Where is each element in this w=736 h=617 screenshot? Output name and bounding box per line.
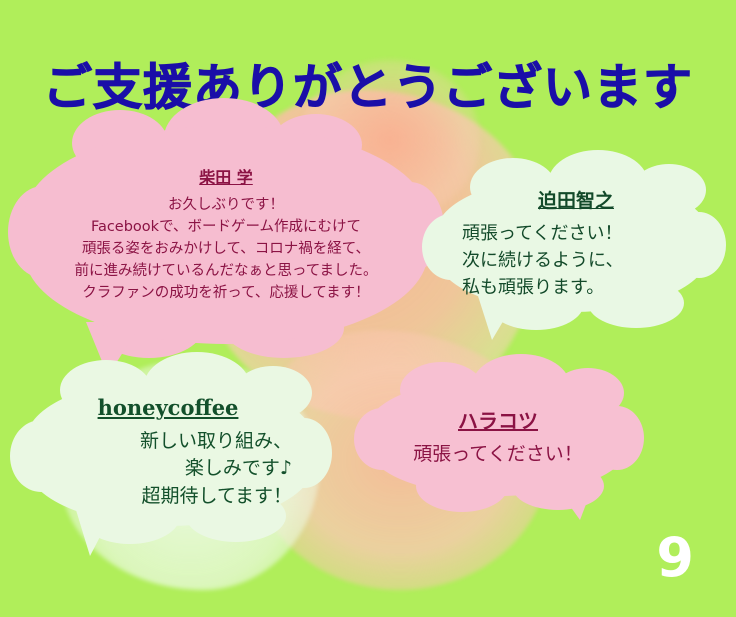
bubble-line: 次に続けるように、	[462, 247, 623, 274]
bubble-line: 頑張ってください！	[413, 440, 582, 469]
bubble-body: ハラコツ 頑張ってください！	[368, 378, 628, 496]
speech-bubble-sakoda: 迫田智之 頑張ってください！ 次に続けるように、 私も頑張ります。	[436, 176, 708, 312]
supporter-name: honeycoffee	[98, 393, 239, 424]
bubble-line: 頑張る姿をおみかけして、コロナ禍を経て、	[82, 238, 370, 260]
bubble-line: 楽しみです♪	[185, 455, 292, 483]
speech-bubble-shibata: 柴田 学 お久しぶりです！ Facebookで、ボードゲーム作成にむけて 頑張る…	[24, 126, 428, 344]
bubble-line: クラファンの成功を祈って、応援してます！	[82, 282, 369, 304]
bubble-body: honeycoffee 新しい取り組み、 楽しみです♪ 超期待してます！	[26, 378, 314, 526]
page-number: 9	[656, 531, 694, 585]
supporter-name: 柴田 学	[199, 166, 253, 190]
bubble-line: 新しい取り組み、	[140, 428, 292, 456]
bubble-body: 柴田 学 お久しぶりです！ Facebookで、ボードゲーム作成にむけて 頑張る…	[24, 126, 428, 344]
supporter-name: ハラコツ	[458, 406, 538, 436]
bubble-line: 超期待してます！	[142, 483, 292, 511]
bubble-line: Facebookで、ボードゲーム作成にむけて	[91, 216, 361, 238]
speech-bubble-honeycoffee: honeycoffee 新しい取り組み、 楽しみです♪ 超期待してます！	[26, 378, 314, 526]
bubble-line: お久しぶりです！	[168, 194, 284, 216]
slide-canvas: ご支援ありがとうございます 柴田 学 お久しぶりです！ Facebookで、ボー…	[0, 0, 736, 617]
bubble-body: 迫田智之 頑張ってください！ 次に続けるように、 私も頑張ります。	[436, 176, 708, 312]
bubble-line: 頑張ってください！	[462, 220, 623, 247]
page-title: ご支援ありがとうございます	[0, 48, 736, 119]
speech-bubble-harakotsu: ハラコツ 頑張ってください！	[368, 378, 628, 496]
supporter-name: 迫田智之	[538, 187, 614, 216]
bubble-line: 前に進み続けているんだなぁと思ってました。	[74, 260, 377, 282]
bubble-line: 私も頑張ります。	[462, 274, 604, 301]
